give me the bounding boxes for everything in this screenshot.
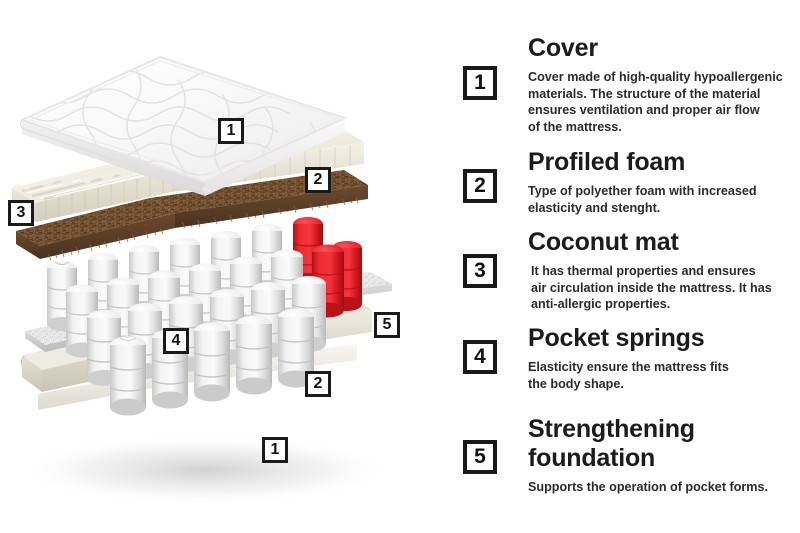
legend-text-2: Profiled foam Type of polyether foam wit… [528,148,796,216]
illustration-badge-3[interactable]: 3 [8,200,34,226]
legend-desc-coconut-mat: It has thermal properties and ensures ai… [528,257,796,313]
legend-title-cover: Cover [528,34,796,63]
legend-desc-cover: Cover made of high-quality hypoallergeni… [528,63,796,135]
legend-badge-3[interactable]: 3 [463,254,497,288]
illustration-badge-1-bottom[interactable]: 1 [262,437,288,463]
legend-text-5: Strengthening foundation Supports the op… [528,415,796,496]
legend-badge-2[interactable]: 2 [463,169,497,203]
legend-badge-1[interactable]: 1 [463,66,497,100]
legend-title-coconut-mat: Coconut mat [528,228,796,257]
legend-panel: 1 Cover Cover made of high-quality hypoa… [460,0,800,533]
legend-desc-strengthening-foundation: Supports the operation of pocket forms. [528,473,796,496]
legend-text-1: Cover Cover made of high-quality hypoall… [528,34,796,135]
mattress-layers-infographic: 1 2 3 4 5 2 1 1 Cover Cover made of high… [0,0,800,533]
illustration-badge-5[interactable]: 5 [374,312,400,338]
legend-badge-4[interactable]: 4 [463,340,497,374]
illustration-badge-2-bottom[interactable]: 2 [305,371,331,397]
legend-badge-5[interactable]: 5 [463,440,497,474]
illustration-badge-2-top[interactable]: 2 [305,167,331,193]
legend-text-4: Pocket springs Elasticity ensure the mat… [528,324,796,392]
ground-shadow [20,436,390,504]
legend-title-strengthening-foundation: Strengthening foundation [528,415,796,473]
illustration-badge-1-top[interactable]: 1 [218,118,244,144]
illustration-badge-4[interactable]: 4 [163,328,189,354]
legend-desc-profiled-foam: Type of polyether foam with increased el… [528,177,796,216]
legend-text-3: Coconut mat It has thermal properties an… [528,228,796,313]
legend-desc-pocket-springs: Elasticity ensure the mattress fits the … [528,353,796,392]
mattress-cross-section-graphic [0,0,460,533]
legend-title-pocket-springs: Pocket springs [528,324,796,353]
exploded-mattress-illustration: 1 2 3 4 5 2 1 [0,0,460,533]
legend-title-profiled-foam: Profiled foam [528,148,796,177]
